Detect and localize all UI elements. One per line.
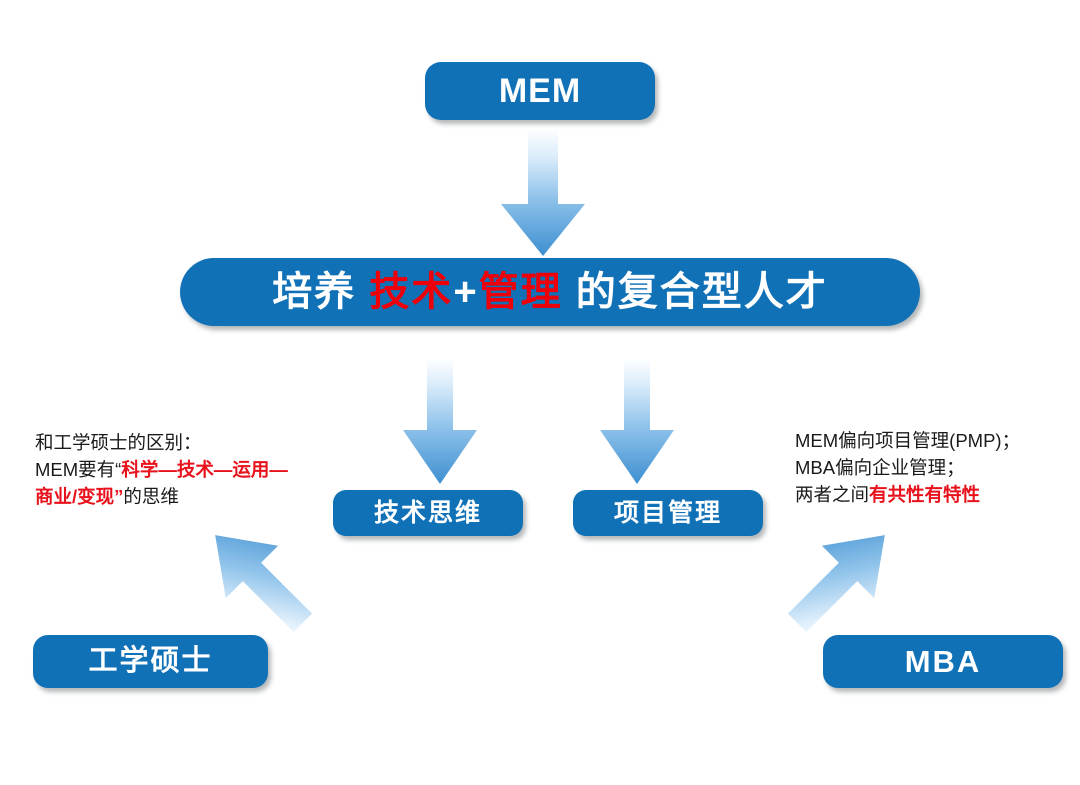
annotation-right-line3: 两者之间有共性有特性 — [795, 482, 1020, 509]
node-mba[interactable]: MBA — [823, 635, 1063, 688]
arrow-tech-to-master — [183, 518, 335, 640]
annotation-right-line1: MEM偏向项目管理(PMP)； — [795, 428, 1020, 455]
arrow-pm-to-mba — [765, 518, 917, 640]
banner-text-mgmt: 管理 — [479, 270, 563, 314]
node-project-management[interactable]: 项目管理 — [573, 490, 763, 536]
node-mem[interactable]: MEM — [425, 62, 655, 120]
annotation-right-line2: MBA偏向企业管理； — [795, 455, 1020, 482]
node-banner-label: 培养 技术+管理 的复合型人才 — [272, 272, 828, 312]
diagram-canvas: MEM 培养 技术+管理 的复合型人才 — [0, 0, 1080, 785]
arrow-banner-to-tech — [398, 358, 482, 486]
node-banner[interactable]: 培养 技术+管理 的复合型人才 — [180, 258, 920, 326]
node-technical-thinking[interactable]: 技术思维 — [333, 490, 523, 536]
node-mba-label: MBA — [905, 646, 982, 677]
annotation-left-line3: 商业/变现”的思维 — [35, 484, 288, 511]
banner-text-plus: + — [453, 270, 478, 314]
arrow-banner-to-pm — [595, 358, 679, 486]
node-engineering-master[interactable]: 工学硕士 — [33, 635, 268, 688]
annotation-left-line1: 和工学硕士的区别： — [35, 430, 288, 457]
annotation-right: MEM偏向项目管理(PMP)； MBA偏向企业管理； 两者之间有共性有特性 — [795, 428, 1020, 508]
banner-text-tech: 技术 — [369, 270, 453, 314]
banner-text-part1: 培养 — [272, 270, 369, 314]
annotation-left: 和工学硕士的区别： MEM要有“科学—技术—运用— 商业/变现”的思维 — [35, 430, 288, 510]
annotation-left-line2: MEM要有“科学—技术—运用— — [35, 457, 288, 484]
node-mem-label: MEM — [499, 74, 581, 108]
banner-text-part5: 的复合型人才 — [563, 270, 828, 314]
node-engineering-master-label: 工学硕士 — [88, 647, 212, 676]
node-technical-thinking-label: 技术思维 — [374, 501, 482, 526]
arrow-mem-to-banner — [495, 128, 591, 258]
node-project-management-label: 项目管理 — [614, 501, 722, 526]
